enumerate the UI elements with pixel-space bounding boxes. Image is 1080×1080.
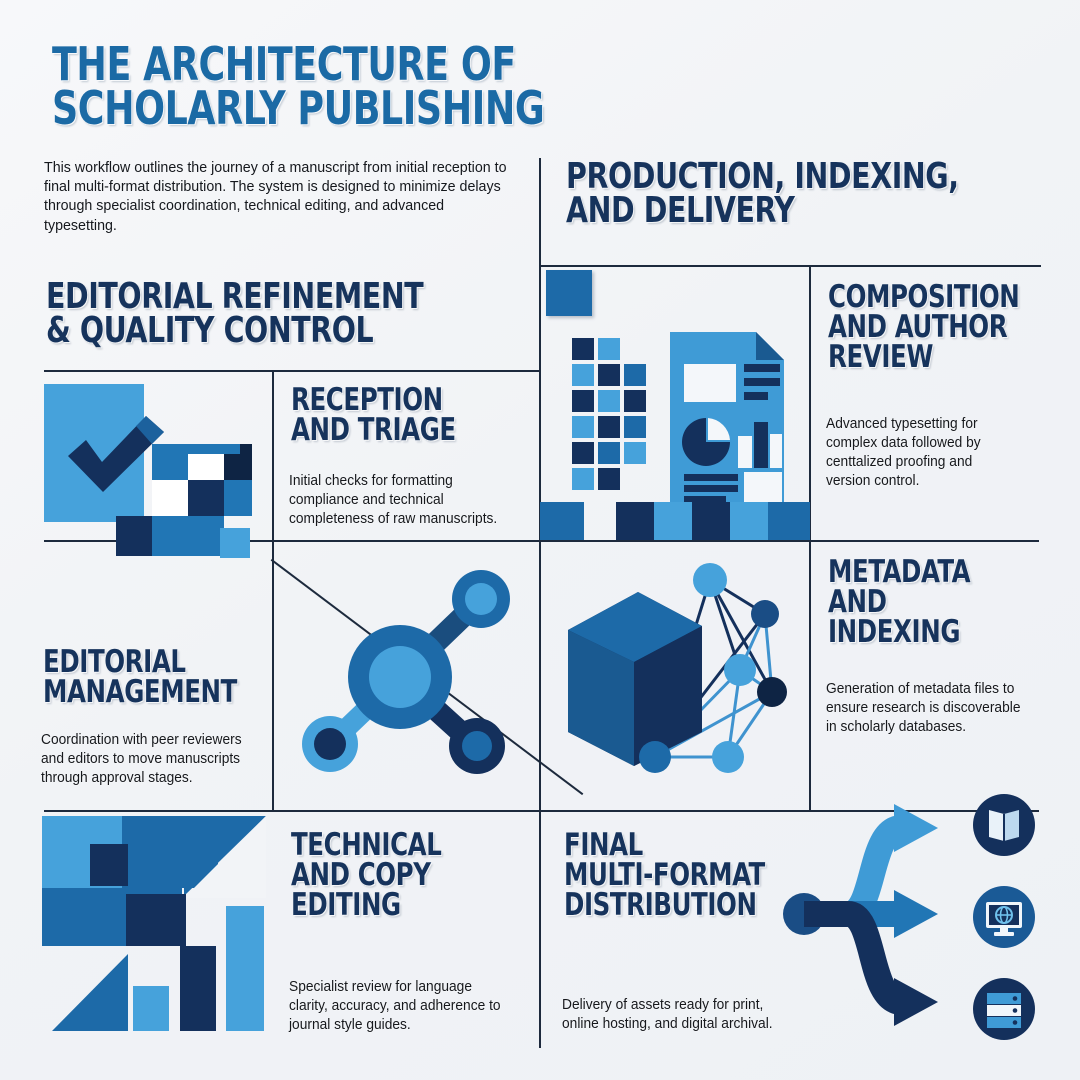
left-inner-divider: [272, 370, 274, 540]
open-book-icon: [972, 793, 1036, 857]
card-title-final-multi-format-distribution: FINAL MULTI-FORMAT DISTRIBUTION: [564, 831, 802, 920]
infographic-canvas: THE ARCHITECTURE OF SCHOLARLY PUBLISHING…: [0, 0, 1080, 1080]
checkmark-mosaic-icon: [40, 380, 270, 570]
document-chart-icon: [560, 326, 810, 516]
card-body-composition-and-author-review: Advanced typesetting for complex data fo…: [826, 415, 1016, 490]
geometric-blocks-icon: [38, 816, 278, 1051]
card-title-technical-and-copy-editing: TECHNICAL AND COPY EDITING: [291, 831, 511, 920]
page-title: THE ARCHITECTURE OF SCHOLARLY PUBLISHING: [52, 42, 598, 130]
server-stack-icon: [972, 977, 1036, 1041]
intro-paragraph: This workflow outlines the journey of a …: [44, 158, 519, 235]
card-body-editorial-management: Coordination with peer reviewers and edi…: [41, 731, 258, 788]
accent-square-top-left: [546, 270, 592, 316]
card-body-technical-and-copy-editing: Specialist review for language clarity, …: [289, 978, 506, 1035]
section-title-production: PRODUCTION, INDEXING, AND DELIVERY: [566, 160, 1006, 228]
checkered-band: [540, 502, 810, 540]
branching-arrows-icon: [790, 790, 990, 1040]
card-body-metadata-and-indexing: Generation of metadata files to ensure r…: [826, 680, 1021, 737]
card-body-reception-and-triage: Initial checks for formatting compliance…: [289, 472, 517, 529]
card-body-final-multi-format-distribution: Delivery of assets ready for print, onli…: [562, 996, 790, 1034]
monitor-globe-icon: [972, 885, 1036, 949]
right-row-rule-1: [539, 540, 1039, 542]
section-title-editorial: EDITORIAL REFINEMENT & QUALITY CONTROL: [46, 280, 504, 348]
card-title-reception-and-triage: RECEPTION AND TRIAGE: [291, 386, 511, 446]
card-title-editorial-management: EDITORIAL MANAGEMENT: [43, 648, 263, 708]
right-composition-rule: [809, 265, 1041, 267]
card-title-metadata-and-indexing: METADATA AND INDEXING: [828, 558, 1030, 647]
left-inner-divider-lower: [272, 540, 274, 810]
left-section-rule: [44, 370, 540, 372]
card-title-composition-and-author-review: COMPOSITION AND AUTHOR REVIEW: [828, 283, 1039, 372]
main-vertical-divider: [539, 158, 541, 1048]
network-hub-icon: [285, 552, 535, 802]
cube-network-icon: [550, 552, 810, 802]
left-row-rule-2: [44, 810, 540, 812]
